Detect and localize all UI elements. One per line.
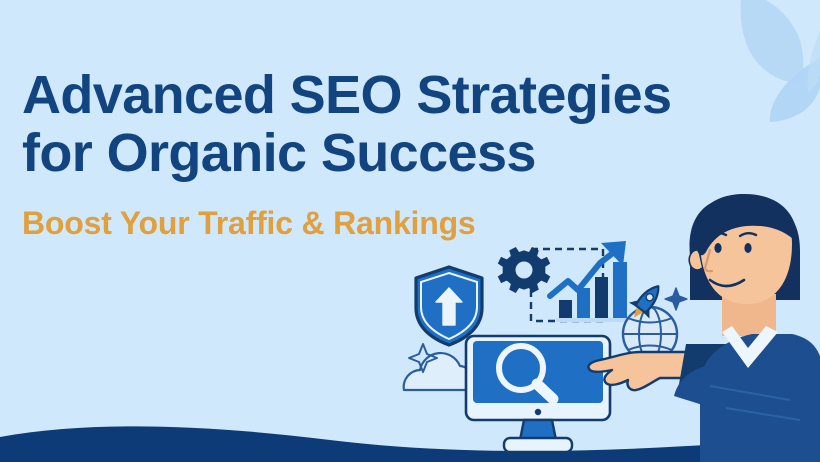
chart-bar-1 (559, 300, 572, 318)
cloud-icon (404, 353, 474, 390)
page-title: Advanced SEO Strategies for Organic Succ… (22, 66, 702, 182)
gear-icon (498, 247, 550, 293)
eye-left (714, 243, 721, 253)
chart-bar-4 (613, 262, 627, 318)
growth-bar-chart (550, 241, 634, 322)
desktop-monitor (466, 336, 610, 452)
text-block: Advanced SEO Strategies for Organic Succ… (22, 66, 702, 242)
monitor-power-dot (535, 409, 541, 415)
shield-up-arrow-icon (416, 267, 482, 345)
seo-banner: Advanced SEO Strategies for Organic Succ… (0, 0, 820, 462)
monitor-base (504, 438, 572, 452)
eye-right (744, 243, 751, 253)
page-subtitle: Boost Your Traffic & Rankings (22, 204, 702, 242)
sparkle-icon (665, 288, 687, 310)
chart-bar-3 (595, 277, 608, 318)
